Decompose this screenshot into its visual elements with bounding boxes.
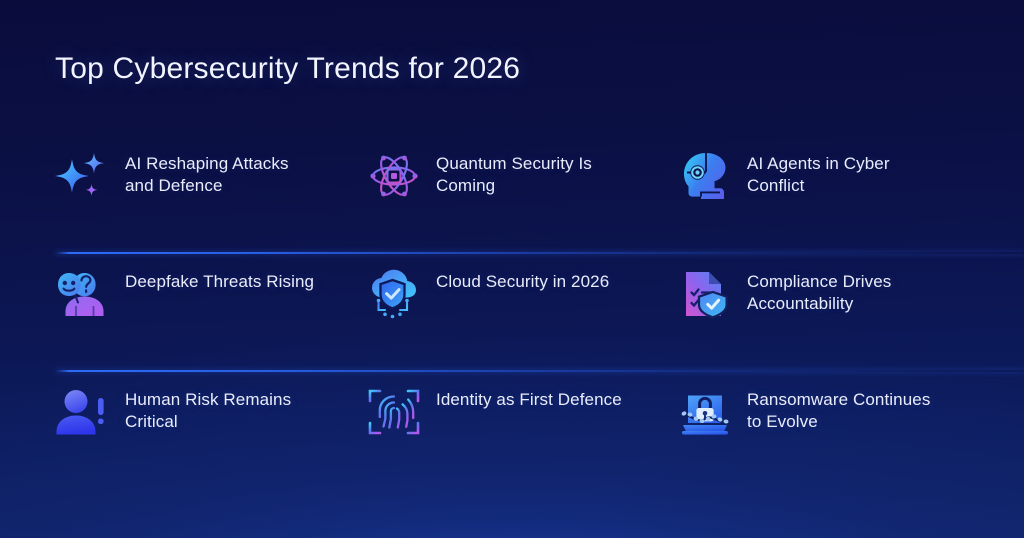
cloud-shield-icon [366, 266, 422, 322]
infographic-poster: Top Cybersecurity Trends for 2026 [0, 0, 1024, 538]
trend-item-compliance-accountability[interactable]: Compliance Drives Accountability [677, 254, 988, 370]
checklist-shield-icon [677, 266, 733, 322]
trend-item-identity-first-defence[interactable]: Identity as First Defence [366, 372, 677, 488]
trend-label: Compliance Drives Accountability [747, 266, 937, 315]
trends-row: Deepfake Threats Rising [0, 254, 1024, 370]
trends-grid: AI Reshaping Attacks and Defence [0, 136, 1024, 488]
trend-label: AI Reshaping Attacks and Defence [125, 148, 315, 197]
trend-item-ai-reshaping-attacks[interactable]: AI Reshaping Attacks and Defence [55, 136, 366, 252]
trend-label: Human Risk Remains Critical [125, 384, 315, 433]
trend-item-deepfake-threats[interactable]: Deepfake Threats Rising [55, 254, 366, 370]
trends-row: AI Reshaping Attacks and Defence [0, 136, 1024, 252]
person-alert-icon [55, 384, 111, 440]
fingerprint-scan-icon [366, 384, 422, 440]
trend-item-cloud-security[interactable]: Cloud Security in 2026 [366, 254, 677, 370]
trend-item-ai-agents-cyber-conflict[interactable]: AI Agents in Cyber Conflict [677, 136, 988, 252]
atom-icon [366, 148, 422, 204]
laptop-lock-chain-icon [677, 384, 733, 440]
sparkles-icon [55, 148, 111, 204]
trend-item-human-risk[interactable]: Human Risk Remains Critical [55, 372, 366, 488]
trend-label: Deepfake Threats Rising [125, 266, 314, 293]
trend-label: Cloud Security in 2026 [436, 266, 609, 293]
trends-row: Human Risk Remains Critical [0, 372, 1024, 488]
trend-item-ransomware-evolve[interactable]: Ransomware Continues to Evolve [677, 372, 988, 488]
trend-item-quantum-security[interactable]: Quantum Security Is Coming [366, 136, 677, 252]
trend-label: Ransomware Continues to Evolve [747, 384, 937, 433]
robot-head-icon [677, 148, 733, 204]
trend-label: AI Agents in Cyber Conflict [747, 148, 937, 197]
page-title: Top Cybersecurity Trends for 2026 [55, 52, 520, 86]
deepfake-mask-person-icon [55, 266, 111, 322]
trend-label: Identity as First Defence [436, 384, 622, 411]
trend-label: Quantum Security Is Coming [436, 148, 626, 197]
